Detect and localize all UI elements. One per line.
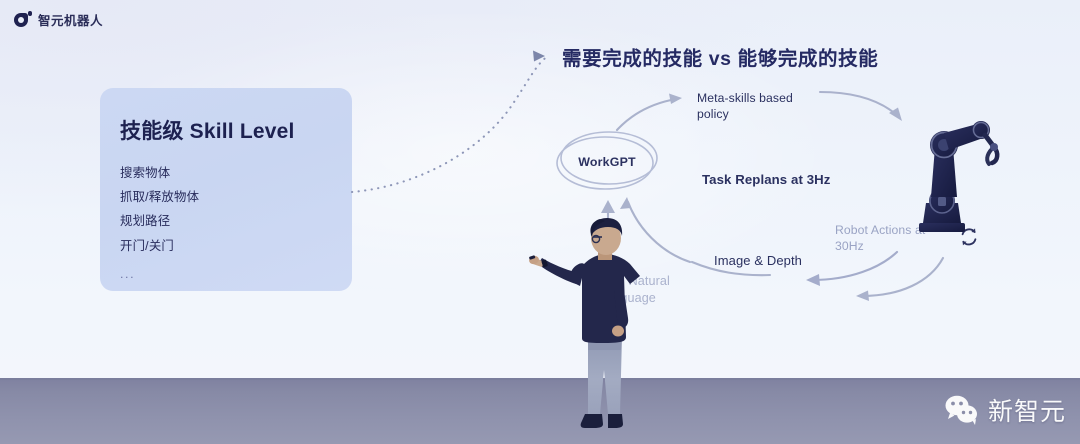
list-item-ellipsis: ... bbox=[120, 258, 352, 286]
list-item: 抓取/释放物体 bbox=[120, 185, 352, 209]
skill-card-title: 技能级 Skill Level bbox=[120, 115, 352, 145]
arrow-head-meta bbox=[669, 94, 682, 105]
wechat-icon bbox=[943, 394, 981, 426]
presentation-stage: 智元机器人 技能级 Skill Level 搜索物体 抓取/释放物体 规划路径 … bbox=[0, 0, 1080, 444]
brand-name: 智元机器人 bbox=[38, 10, 103, 29]
arrow-head-image bbox=[856, 291, 869, 302]
arrow-head-workgpt-right bbox=[620, 197, 631, 209]
presenter-person-icon bbox=[530, 218, 670, 444]
label-meta-skills: Meta-skills based policy bbox=[697, 90, 817, 123]
arrow-robot-to-image bbox=[862, 258, 943, 296]
agibot-logo-icon bbox=[14, 11, 31, 28]
skill-list: 搜索物体 抓取/释放物体 规划路径 开门/关门 ... bbox=[120, 161, 352, 286]
arrow-head-bottom-left bbox=[806, 274, 820, 286]
robot-arm-icon bbox=[895, 105, 1005, 245]
dotted-arrow-path bbox=[352, 56, 548, 192]
arrow-workgpt-to-meta bbox=[617, 99, 676, 130]
label-image-depth: Image & Depth bbox=[714, 252, 802, 270]
list-item: 开门/关门 bbox=[120, 234, 352, 258]
watermark-text: 新智元 bbox=[988, 392, 1066, 428]
dotted-arrow-head bbox=[533, 51, 545, 62]
arrow-head-workgpt-left bbox=[601, 200, 615, 213]
arrow-meta-to-robot bbox=[820, 92, 898, 116]
skill-level-card: 技能级 Skill Level 搜索物体 抓取/释放物体 规划路径 开门/关门 … bbox=[100, 88, 352, 291]
page-title: 需要完成的技能 vs 能够完成的技能 bbox=[562, 42, 878, 71]
list-item: 规划路径 bbox=[120, 209, 352, 233]
arrow-bottom-left bbox=[812, 252, 897, 280]
watermark: 新智元 bbox=[943, 392, 1066, 428]
brand-logo: 智元机器人 bbox=[14, 10, 103, 29]
list-item: 搜索物体 bbox=[120, 161, 352, 185]
label-task-replans: Task Replans at 3Hz bbox=[702, 172, 830, 187]
workgpt-label: WorkGPT bbox=[552, 155, 662, 169]
